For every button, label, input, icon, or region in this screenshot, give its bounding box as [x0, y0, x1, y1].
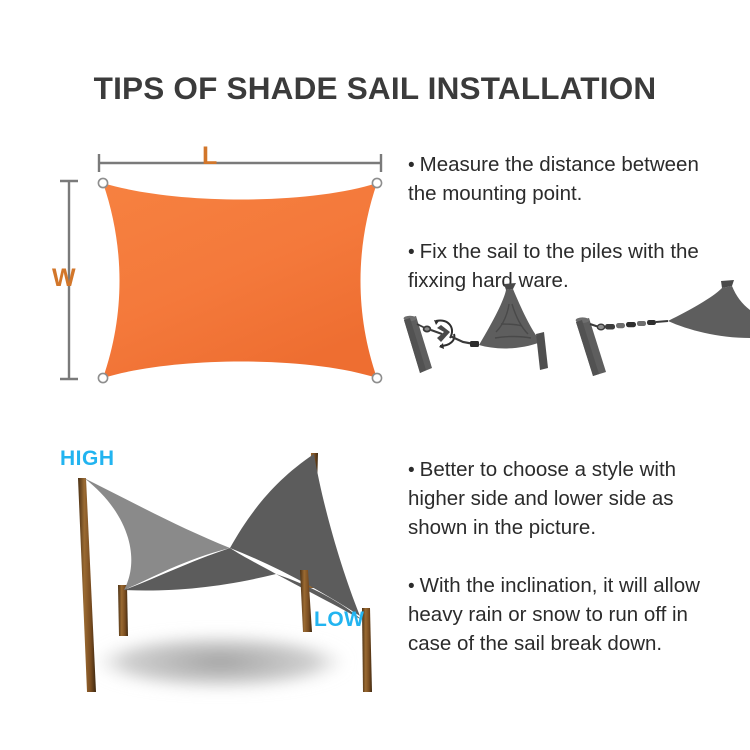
- bullet-icon: •: [408, 461, 415, 480]
- tip-item: •Measure the distance between the mounti…: [408, 150, 750, 208]
- tip-line: •Measure the distance between: [408, 150, 750, 179]
- sail-dimension-diagram: [55, 135, 405, 405]
- sail-dimension-svg: [55, 135, 405, 405]
- width-label: W: [52, 264, 76, 293]
- tips-bottom-block: •Better to choose a style with higher si…: [408, 455, 750, 650]
- tip-line: the mounting point.: [408, 179, 750, 208]
- sail-dark-gray: [230, 454, 360, 616]
- sail-setup-diagram: [40, 430, 420, 710]
- hardware-diagrams-svg: [400, 280, 750, 390]
- pole-mid-short: [118, 585, 128, 636]
- sail-corner-patch: [668, 280, 750, 338]
- tip-line: •With the inclination, it will allow: [408, 571, 750, 600]
- tip-text: Measure the distance between: [420, 153, 699, 176]
- tip-line: case of the sail break down.: [408, 629, 750, 658]
- tips-top-block: •Measure the distance between the mounti…: [408, 150, 750, 270]
- page-title: TIPS OF SHADE SAIL INSTALLATION: [0, 70, 750, 107]
- chain-icon: [605, 320, 656, 330]
- bullet-icon: •: [408, 577, 415, 596]
- chain-attachment-diagram: [576, 280, 750, 376]
- bullet-icon: •: [408, 243, 415, 262]
- tip-line: shown in the picture.: [408, 513, 750, 542]
- tip-text: With the inclination, it will allow: [420, 574, 700, 597]
- sail-corner-patch: [479, 283, 548, 370]
- sail-setup-svg: [40, 430, 420, 710]
- tip-text: Better to choose a style with: [420, 458, 676, 481]
- length-label: L: [202, 142, 217, 171]
- low-label: LOW: [314, 608, 364, 632]
- tip-line: heavy rain or snow to run off in: [408, 600, 750, 629]
- length-dimension-line: [99, 154, 381, 172]
- pole-high-left: [78, 478, 96, 692]
- hardware-diagrams: [400, 280, 750, 390]
- rope-line: [656, 321, 668, 322]
- tip-item: •With the inclination, it will allow hea…: [408, 571, 750, 658]
- tip-line: •Better to choose a style with: [408, 455, 750, 484]
- turnbuckle-icon: [431, 320, 454, 349]
- high-label: HIGH: [60, 447, 115, 471]
- tip-item: •Better to choose a style with higher si…: [408, 455, 750, 542]
- turnbuckle-attachment-diagram: [404, 283, 548, 373]
- ground-shadow: [95, 635, 345, 689]
- infographic-root: TIPS OF SHADE SAIL INSTALLATION: [0, 0, 750, 750]
- tip-text: Fix the sail to the piles with the: [420, 240, 699, 263]
- tip-line: •Fix the sail to the piles with the: [408, 237, 750, 266]
- clamp-icon: [470, 341, 479, 347]
- bullet-icon: •: [408, 156, 415, 175]
- tip-line: higher side and lower side as: [408, 484, 750, 513]
